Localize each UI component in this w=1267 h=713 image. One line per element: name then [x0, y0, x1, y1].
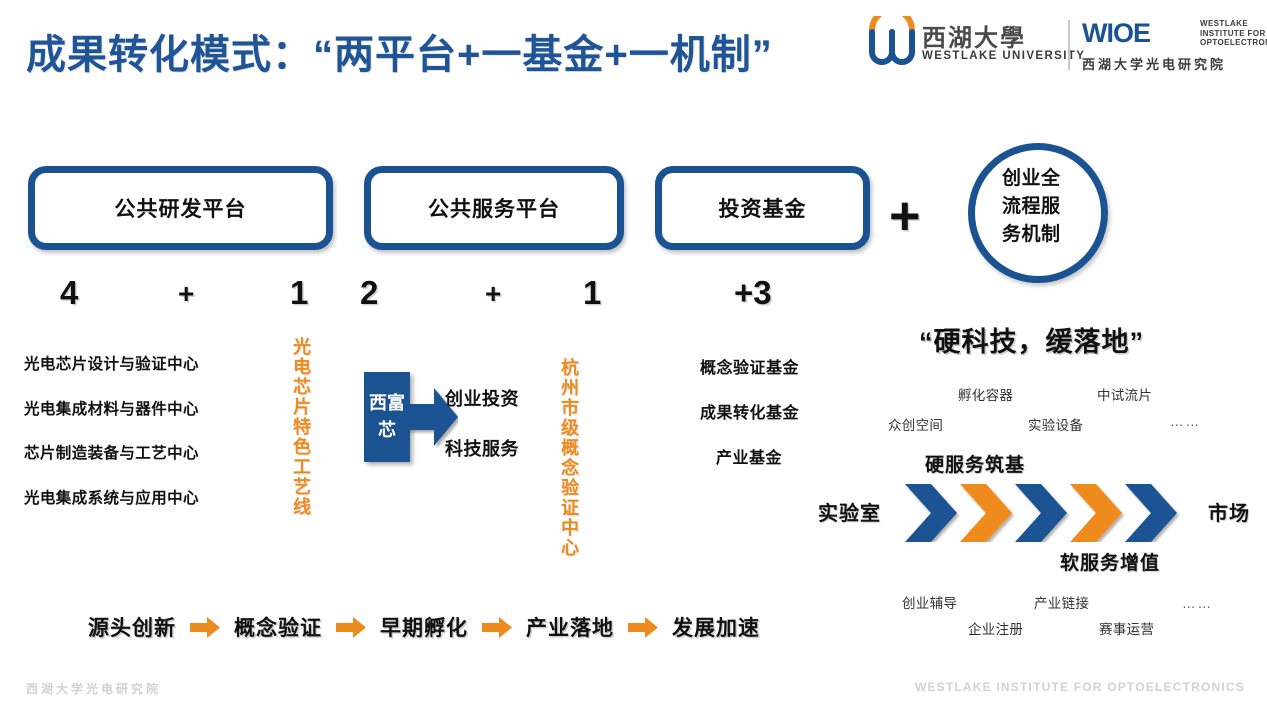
service-right-count: 1 [583, 274, 601, 312]
mechanism-circle-line3: 务机制 [1002, 221, 1061, 249]
hard-tag-pilot-tapeout: 中试流片 [1097, 384, 1152, 404]
chevron-2 [960, 484, 1012, 542]
rd-center-item-3: 芯片制造装备与工艺中心 [24, 441, 199, 463]
rd-operator: + [178, 278, 194, 310]
flow-arrow-3 [482, 617, 512, 638]
platform-box-fund-label: 投资基金 [719, 193, 807, 223]
logo-institute-word: WIOE [1082, 18, 1150, 49]
vertical-label-process-line: 光电芯片特色工艺线 [288, 337, 314, 517]
logo-institute-cn: 西湖大学光电研究院 [1082, 54, 1226, 73]
platform-box-rd-label: 公共研发平台 [115, 193, 247, 223]
service-item-2: 科技服务 [445, 435, 519, 461]
rd-left-count: 4 [60, 274, 78, 312]
soft-tag-ellipsis: …… [1182, 596, 1213, 611]
logo-institute-en: WESTLAKE INSTITUTE FOR OPTOELECTRONICS [1200, 19, 1267, 48]
logo-university-en: WESTLAKE UNIVERSITY [922, 50, 1085, 62]
fund-count: +3 [734, 274, 772, 312]
rd-center-item-1: 光电芯片设计与验证中心 [24, 352, 199, 374]
rd-center-item-2: 光电集成材料与器件中心 [24, 397, 199, 419]
soft-tag-company-registration: 企业注册 [968, 618, 1023, 638]
pipeline-start-label: 实验室 [818, 497, 881, 526]
platform-box-fund[interactable]: 投资基金 [655, 166, 870, 250]
mechanism-circle-text: 创业全 流程服 务机制 [1002, 165, 1061, 249]
logo-divider [1068, 20, 1070, 70]
hard-tag-lab-equipment: 实验设备 [1028, 414, 1083, 434]
chevron-4 [1070, 484, 1122, 542]
hard-tag-ellipsis: …… [1170, 414, 1201, 429]
service-operator: + [485, 278, 501, 310]
flow-arrow-2 [336, 617, 366, 638]
mechanism-plus-sign: + [889, 185, 921, 247]
flow-arrow-4 [628, 617, 658, 638]
transformation-flow: 源头创新 概念验证 早期孵化 产业落地 发展加速 [88, 612, 760, 642]
westlake-w-mark-icon [868, 16, 916, 68]
chevron-3 [1015, 484, 1067, 542]
flow-step-3[interactable]: 早期孵化 [380, 612, 468, 642]
brand-logo: 西湖大學 WESTLAKE UNIVERSITY WIOE WESTLAKE I… [868, 16, 1256, 74]
chevron-5 [1125, 484, 1177, 542]
chevron-1 [905, 484, 957, 542]
flow-step-4[interactable]: 产业落地 [526, 612, 614, 642]
slide-canvas: 成果转化模式：“两平台+一基金+一机制” 西湖大學 WESTLAKE UNIVE… [0, 0, 1267, 713]
platform-box-service[interactable]: 公共服务平台 [364, 166, 624, 250]
page-title: 成果转化模式：“两平台+一基金+一机制” [26, 22, 773, 80]
pipeline-chevrons [905, 484, 1205, 542]
soft-tag-event-operations: 赛事运营 [1099, 618, 1154, 638]
flow-step-2[interactable]: 概念验证 [234, 612, 322, 642]
logo-university-cn: 西湖大學 [922, 18, 1026, 53]
footer-right-text: WESTLAKE INSTITUTE FOR OPTOELECTRONICS [915, 680, 1245, 694]
vertical-label-proof-center: 杭州市级概念验证中心 [556, 358, 582, 558]
soft-tag-startup-coaching: 创业辅导 [902, 592, 957, 612]
fund-item-2: 成果转化基金 [700, 399, 799, 423]
company-box-xifuxin-label: 西富芯 [364, 390, 410, 444]
hard-tag-incubation-container: 孵化容器 [958, 384, 1013, 404]
service-item-1: 创业投资 [445, 385, 519, 411]
flow-step-1[interactable]: 源头创新 [88, 612, 176, 642]
rd-right-count: 1 [290, 274, 308, 312]
flow-arrow-1 [190, 617, 220, 638]
mechanism-circle-line2: 流程服 [1002, 193, 1061, 221]
service-left-count: 2 [360, 274, 378, 312]
company-box-xifuxin[interactable]: 西富芯 [364, 372, 410, 462]
soft-tag-industry-linkage: 产业链接 [1034, 592, 1089, 612]
pipeline-end-label: 市场 [1208, 497, 1250, 526]
mechanism-circle-line1: 创业全 [1002, 165, 1061, 193]
soft-service-label: 软服务增值 [1060, 548, 1160, 575]
rd-center-item-4: 光电集成系统与应用中心 [24, 486, 199, 508]
hard-service-label: 硬服务筑基 [925, 450, 1025, 477]
platform-box-service-label: 公共服务平台 [428, 193, 560, 223]
fund-item-3: 产业基金 [716, 444, 782, 468]
mechanism-slogan: “硬科技，缓落地” [919, 320, 1144, 359]
flow-step-5[interactable]: 发展加速 [672, 612, 760, 642]
fund-item-1: 概念验证基金 [700, 354, 799, 378]
platform-box-rd[interactable]: 公共研发平台 [28, 166, 333, 250]
hard-tag-maker-space: 众创空间 [888, 414, 943, 434]
footer-left-text: 西湖大学光电研究院 [26, 680, 161, 697]
